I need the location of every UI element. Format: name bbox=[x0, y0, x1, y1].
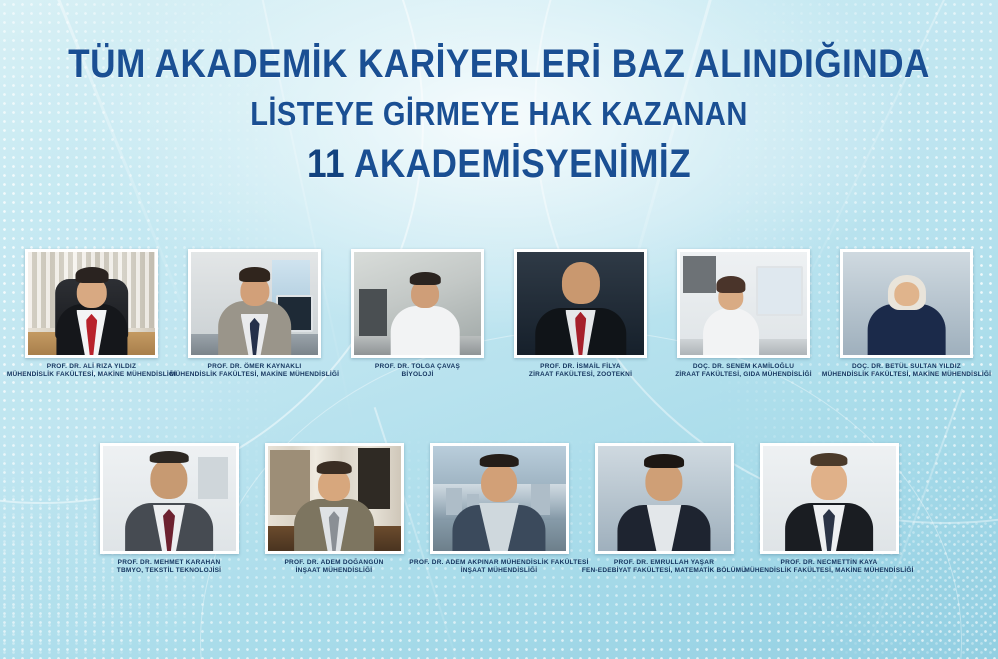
title-line-2: LİSTEYE GİRMEYE HAK KAZANAN bbox=[60, 97, 938, 131]
academician-name: PROF. DR. MEHMET KARAHAN bbox=[117, 559, 221, 567]
academician-card[interactable]: DOÇ. DR. BETÜL SULTAN YILDIZ MÜHENDİSLİK… bbox=[838, 249, 975, 379]
academician-count: 11 bbox=[307, 142, 345, 186]
academician-department: MÜHENDİSLİK FAKÜLTESİ, MAKİNE MÜHENDİSLİ… bbox=[822, 371, 991, 379]
academician-caption: DOÇ. DR. BETÜL SULTAN YILDIZ MÜHENDİSLİK… bbox=[822, 363, 991, 379]
academician-name: DOÇ. DR. SENEM KAMİLOĞLU bbox=[675, 363, 812, 371]
academician-department: MÜHENDİSLİK FAKÜLTESİ, MAKİNE MÜHENDİSLİ… bbox=[7, 371, 176, 379]
poster-canvas: TÜM AKADEMİK KARİYERLERİ BAZ ALINDIĞINDA… bbox=[0, 0, 998, 659]
academician-card[interactable]: PROF. DR. İSMAİL FİLYA ZİRAAT FAKÜLTESİ,… bbox=[512, 249, 649, 379]
academician-name: PROF. DR. ADEM DOĞANGÜN bbox=[284, 559, 383, 567]
academician-department: MÜHENDİSLİK FAKÜLTESİ, MAKİNE MÜHENDİSLİ… bbox=[170, 371, 339, 379]
academician-card[interactable]: PROF. DR. ADEM DOĞANGÜN İNŞAAT MÜHENDİSL… bbox=[263, 443, 406, 575]
title-line-3: 11 AKADEMİSYENİMİZ bbox=[60, 144, 938, 186]
academician-photo bbox=[351, 249, 484, 358]
academician-card[interactable]: PROF. DR. ALİ RIZA YILDIZ MÜHENDİSLİK FA… bbox=[23, 249, 160, 379]
title-line-3-text: AKADEMİSYENİMİZ bbox=[345, 142, 691, 186]
academician-card[interactable]: PROF. DR. ÖMER KAYNAKLI MÜHENDİSLİK FAKÜ… bbox=[186, 249, 323, 379]
academician-department: TBMYO, TEKSTİL TEKNOLOJİSİ bbox=[117, 567, 221, 575]
academician-department: ZİRAAT FAKÜLTESİ, ZOOTEKNİ bbox=[529, 371, 632, 379]
academician-caption: PROF. DR. ADEM AKPINAR MÜHENDİSLİK FAKÜL… bbox=[409, 559, 588, 575]
academician-department: ZİRAAT FAKÜLTESİ, GIDA MÜHENDİSLİĞİ bbox=[675, 371, 812, 379]
academician-department: BİYOLOJİ bbox=[375, 371, 460, 379]
academician-name: PROF. DR. ALİ RIZA YILDIZ bbox=[7, 363, 176, 371]
academician-photo bbox=[595, 443, 734, 554]
academician-card[interactable]: PROF. DR. ADEM AKPINAR MÜHENDİSLİK FAKÜL… bbox=[428, 443, 571, 575]
poster-title-block: TÜM AKADEMİK KARİYERLERİ BAZ ALINDIĞINDA… bbox=[0, 44, 998, 186]
title-line-1: TÜM AKADEMİK KARİYERLERİ BAZ ALINDIĞINDA bbox=[60, 44, 938, 86]
academician-department: MÜHENDİSLİK FAKÜLTESİ, MAKİNE MÜHENDİSLİ… bbox=[744, 567, 913, 575]
academician-row-2: PROF. DR. MEHMET KARAHAN TBMYO, TEKSTİL … bbox=[0, 443, 998, 575]
academician-photo bbox=[25, 249, 158, 358]
academician-photo bbox=[840, 249, 973, 358]
academician-caption: PROF. DR. EMRULLAH YAŞAR FEN-EDEBİYAT FA… bbox=[582, 559, 746, 575]
academician-name: PROF. DR. NECMETTİN KAYA bbox=[744, 559, 913, 567]
academician-photo bbox=[100, 443, 239, 554]
academician-card[interactable]: PROF. DR. MEHMET KARAHAN TBMYO, TEKSTİL … bbox=[98, 443, 241, 575]
academician-photo bbox=[430, 443, 569, 554]
academician-caption: PROF. DR. ADEM DOĞANGÜN İNŞAAT MÜHENDİSL… bbox=[284, 559, 383, 575]
academician-name: DOÇ. DR. BETÜL SULTAN YILDIZ bbox=[822, 363, 991, 371]
academician-photo bbox=[188, 249, 321, 358]
academician-caption: PROF. DR. ALİ RIZA YILDIZ MÜHENDİSLİK FA… bbox=[7, 363, 176, 379]
academician-caption: PROF. DR. NECMETTİN KAYA MÜHENDİSLİK FAK… bbox=[744, 559, 913, 575]
academician-caption: PROF. DR. ÖMER KAYNAKLI MÜHENDİSLİK FAKÜ… bbox=[170, 363, 339, 379]
academician-row-1: PROF. DR. ALİ RIZA YILDIZ MÜHENDİSLİK FA… bbox=[0, 249, 998, 379]
academician-caption: PROF. DR. İSMAİL FİLYA ZİRAAT FAKÜLTESİ,… bbox=[529, 363, 632, 379]
academician-name: PROF. DR. EMRULLAH YAŞAR bbox=[582, 559, 746, 567]
academician-photo bbox=[760, 443, 899, 554]
academician-card[interactable]: DOÇ. DR. SENEM KAMİLOĞLU ZİRAAT FAKÜLTES… bbox=[675, 249, 812, 379]
academician-name: PROF. DR. ÖMER KAYNAKLI bbox=[170, 363, 339, 371]
academician-department: İNŞAAT MÜHENDİSLİĞİ bbox=[284, 567, 383, 575]
academician-department: İNŞAAT MÜHENDİSLİĞİ bbox=[409, 567, 588, 575]
academician-photo bbox=[265, 443, 404, 554]
academician-name: PROF. DR. İSMAİL FİLYA bbox=[529, 363, 632, 371]
academician-card[interactable]: PROF. DR. TOLGA ÇAVAŞ BİYOLOJİ bbox=[349, 249, 486, 379]
academician-card[interactable]: PROF. DR. NECMETTİN KAYA MÜHENDİSLİK FAK… bbox=[758, 443, 901, 575]
academician-card[interactable]: PROF. DR. EMRULLAH YAŞAR FEN-EDEBİYAT FA… bbox=[593, 443, 736, 575]
academician-photo bbox=[514, 249, 647, 358]
academician-name: PROF. DR. TOLGA ÇAVAŞ bbox=[375, 363, 460, 371]
academician-department: FEN-EDEBİYAT FAKÜLTESİ, MATEMATİK BÖLÜMÜ bbox=[582, 567, 746, 575]
academician-name: PROF. DR. ADEM AKPINAR MÜHENDİSLİK FAKÜL… bbox=[409, 559, 588, 567]
academician-caption: PROF. DR. TOLGA ÇAVAŞ BİYOLOJİ bbox=[375, 363, 460, 379]
academician-caption: DOÇ. DR. SENEM KAMİLOĞLU ZİRAAT FAKÜLTES… bbox=[675, 363, 812, 379]
academician-photo bbox=[677, 249, 810, 358]
academician-caption: PROF. DR. MEHMET KARAHAN TBMYO, TEKSTİL … bbox=[117, 559, 221, 575]
